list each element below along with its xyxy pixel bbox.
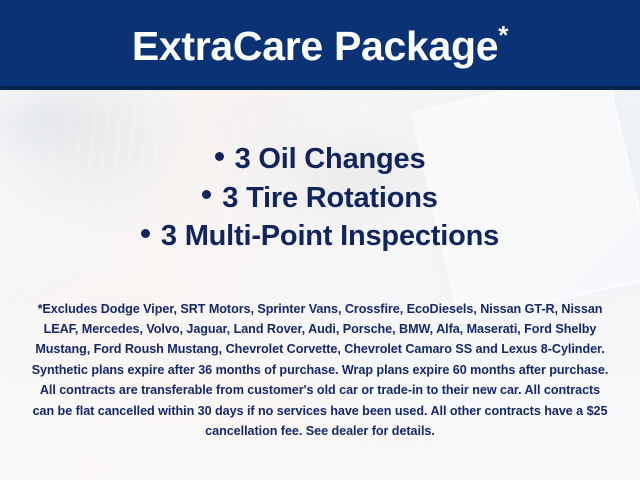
list-item: 3 Oil Changes (0, 90, 640, 179)
benefit-label: 3 Tire Rotations (222, 182, 437, 214)
disclaimer-text: *Excludes Dodge Viper, SRT Motors, Sprin… (0, 256, 640, 442)
promo-content: 3 Oil Changes 3 Tire Rotations 3 Multi-P… (0, 0, 640, 480)
list-item: 3 Tire Rotations (0, 179, 640, 218)
bullet-dot-icon (202, 190, 211, 199)
list-item: 3 Multi-Point Inspections (0, 217, 640, 256)
extracare-promo-card: ExtraCare Package* 3 Oil Changes 3 Tire … (0, 0, 640, 480)
benefit-label: 3 Multi-Point Inspections (161, 220, 499, 252)
benefits-list: 3 Oil Changes 3 Tire Rotations 3 Multi-P… (0, 90, 640, 256)
benefit-label: 3 Oil Changes (235, 143, 426, 175)
bullet-dot-icon (215, 152, 224, 161)
bullet-dot-icon (141, 229, 150, 238)
